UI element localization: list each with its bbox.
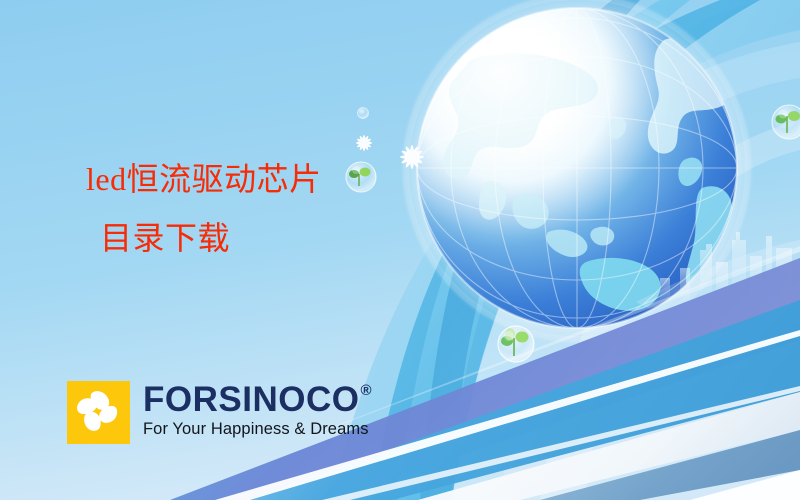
bubble-plain-upper bbox=[358, 108, 369, 119]
registered-trademark-icon: ® bbox=[360, 383, 372, 398]
four-petal-pinwheel-icon bbox=[67, 381, 130, 444]
logo-wordmark: FORSINOCO bbox=[143, 382, 359, 417]
bubble-seedling-center bbox=[498, 326, 534, 362]
bubble-seedling-left bbox=[346, 162, 376, 192]
brand-logo: FORSINOCO ® For Your Happiness & Dreams bbox=[67, 381, 372, 444]
logo-text-block: FORSINOCO ® For Your Happiness & Dreams bbox=[143, 381, 372, 438]
logo-tagline: For Your Happiness & Dreams bbox=[143, 421, 372, 438]
bubble-seedling-right bbox=[772, 105, 800, 139]
poster-canvas: led恒流驱动芯片 目录下载 FORSINOCO ® For Your Happ… bbox=[0, 0, 800, 500]
logo-wordmark-row: FORSINOCO ® bbox=[143, 382, 372, 417]
